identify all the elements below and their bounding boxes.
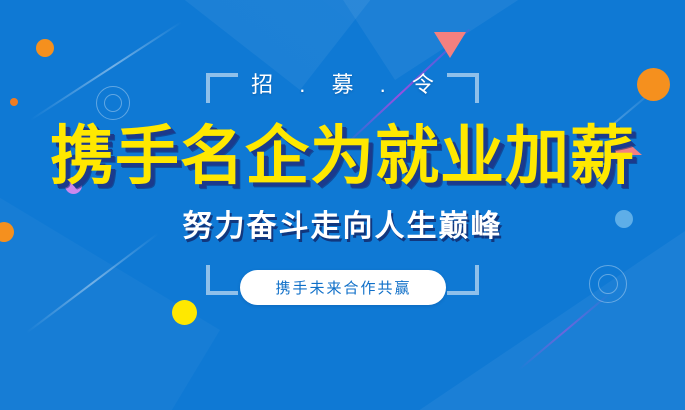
banner-content: 招 . 募 . 令 携手名企为就业加薪 努力奋斗走向人生巅峰 携手未来合作共赢	[0, 0, 685, 410]
banner-headline: 携手名企为就业加薪	[0, 118, 685, 194]
banner-eyebrow: 招 . 募 . 令	[0, 70, 685, 100]
banner-subhead: 努力奋斗走向人生巅峰	[0, 206, 685, 248]
recruitment-banner: 招 . 募 . 令 携手名企为就业加薪 努力奋斗走向人生巅峰 携手未来合作共赢	[0, 0, 685, 410]
cta-button[interactable]: 携手未来合作共赢	[239, 270, 445, 305]
